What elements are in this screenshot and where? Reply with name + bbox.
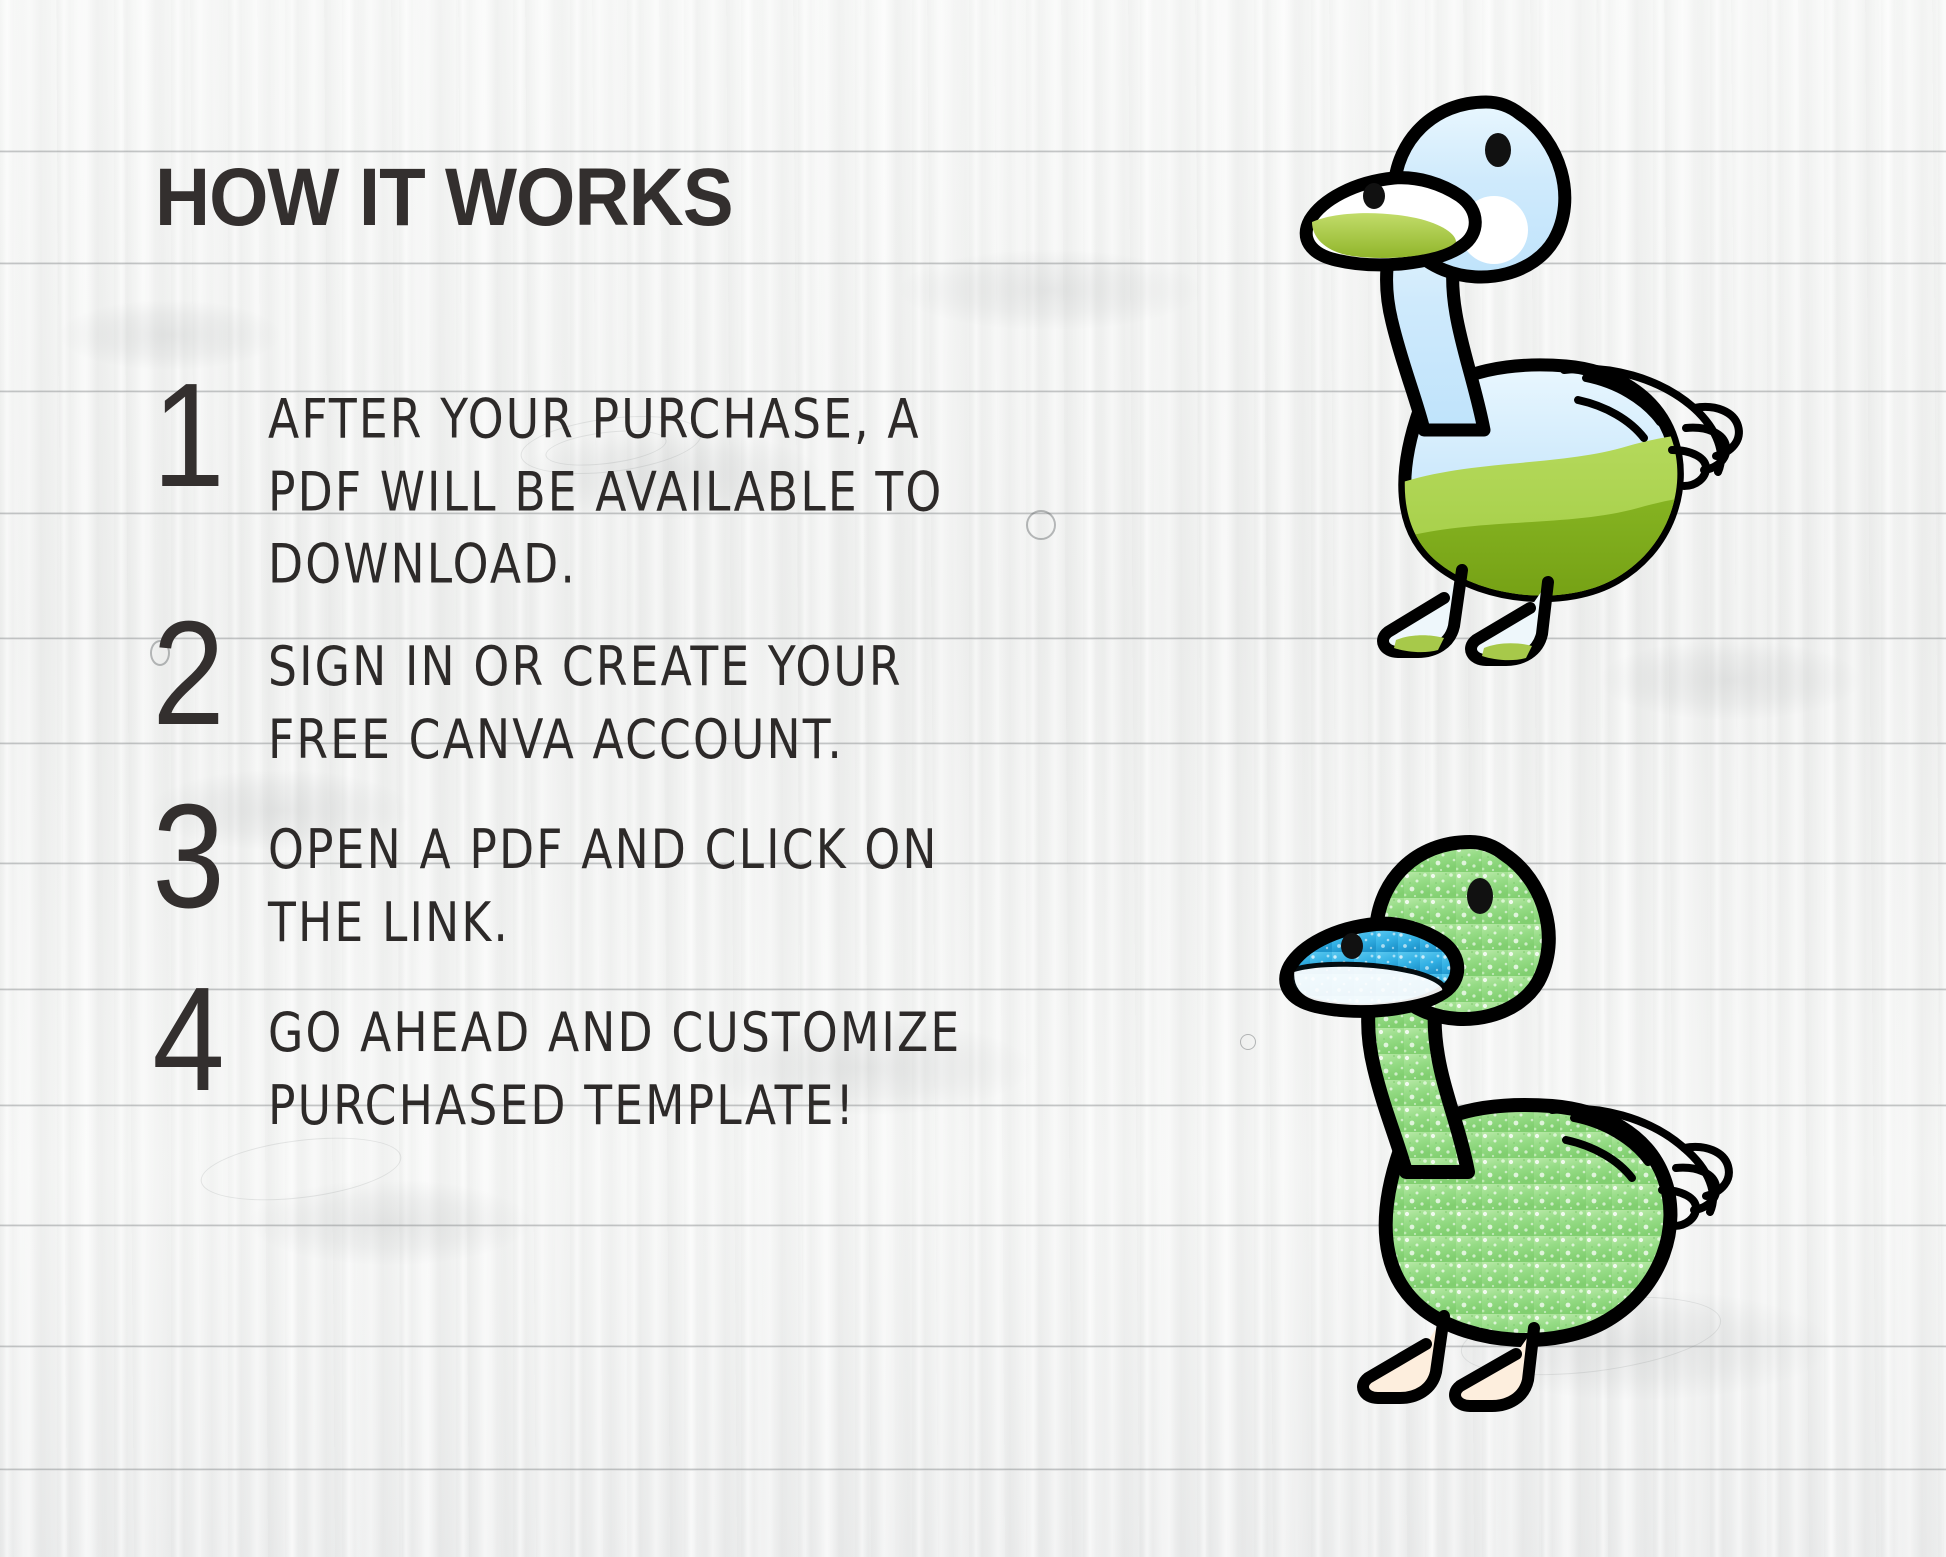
step-item: 2 SIGN IN OR CREATE YOUR FREE CANVA ACCO… (140, 606, 1070, 753)
goose-eye (1485, 133, 1511, 167)
step-number-1: 1 (140, 368, 253, 504)
goose-beak (1286, 924, 1457, 1011)
goose-landscape-illustration (1248, 78, 1740, 686)
step-text-2: SIGN IN OR CREATE YOUR FREE CANVA ACCOUN… (268, 606, 1046, 777)
step-item: 3 OPEN A PDF AND CLICK ON THE LINK. (140, 789, 1070, 936)
steps-list: 1 AFTER YOUR PURCHASE, A PDF WILL BE AVA… (140, 368, 1070, 1155)
page-title: HOW IT WORKS (155, 151, 733, 245)
step-number-2: 2 (140, 606, 253, 742)
step-line: FREE CANVA ACCOUNT. (268, 704, 1046, 777)
step-number-3: 3 (140, 789, 253, 925)
step-line: AFTER YOUR PURCHASE, A (268, 384, 1046, 457)
goose-left-leg (1363, 1316, 1444, 1398)
step-line: PDF WILL BE AVAILABLE TO (268, 457, 1046, 530)
goose-glitter-illustration (1222, 820, 1752, 1430)
step-item: 4 GO AHEAD AND CUSTOMIZE PURCHASED TEMPL… (140, 972, 1070, 1119)
goose-eye (1467, 878, 1493, 914)
goose-nostril (1341, 933, 1363, 959)
step-line: OPEN A PDF AND CLICK ON (268, 814, 1046, 887)
step-text-4: GO AHEAD AND CUSTOMIZE PURCHASED TEMPLAT… (268, 972, 1046, 1143)
step-number-4: 4 (140, 972, 253, 1108)
step-line: SIGN IN OR CREATE YOUR (268, 631, 1046, 704)
step-item: 1 AFTER YOUR PURCHASE, A PDF WILL BE AVA… (140, 368, 1070, 570)
step-line: PURCHASED TEMPLATE! (268, 1070, 1046, 1143)
step-line: DOWNLOAD. (268, 529, 1046, 602)
step-text-1: AFTER YOUR PURCHASE, A PDF WILL BE AVAIL… (268, 368, 1046, 602)
step-text-3: OPEN A PDF AND CLICK ON THE LINK. (268, 789, 1046, 960)
step-line: THE LINK. (268, 887, 1046, 960)
step-line: GO AHEAD AND CUSTOMIZE (268, 997, 1046, 1070)
content-column: HOW IT WORKS 1 AFTER YOUR PURCHASE, A PD… (0, 0, 1080, 1557)
goose-nostril (1363, 183, 1385, 209)
goose-beak (1306, 178, 1475, 265)
poster-canvas: HOW IT WORKS 1 AFTER YOUR PURCHASE, A PD… (0, 0, 1946, 1557)
